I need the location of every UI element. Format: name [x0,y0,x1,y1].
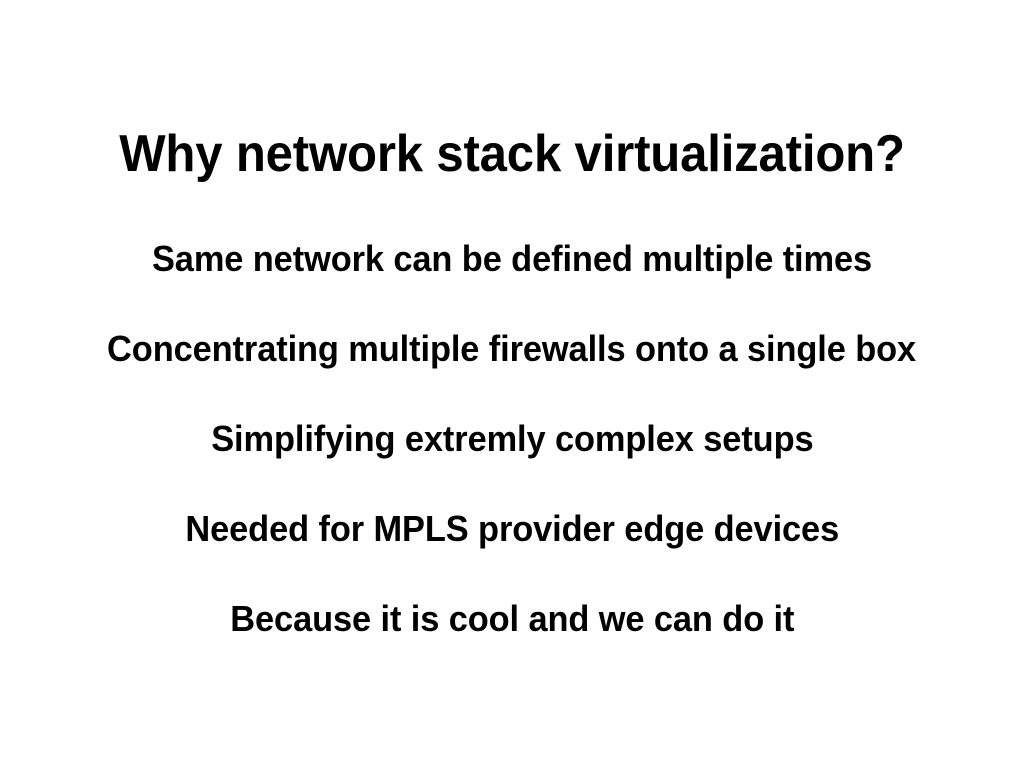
bullet-line-4: Needed for MPLS provider edge devices [0,484,1024,574]
bullet-line-3: Simplifying extremly complex setups [0,394,1024,484]
bullet-line-3-text: Simplifying extremly complex setups [211,394,813,484]
bullet-line-5: Because it is cool and we can do it [0,574,1024,664]
bullet-line-2: Concentrating multiple firewalls onto a … [0,304,1024,394]
bullet-line-2-text: Concentrating multiple firewalls onto a … [107,304,916,394]
presentation-slide: Why network stack virtualization? Same n… [0,0,1024,768]
slide-bullet-list: Same network can be defined multiple tim… [0,214,1024,664]
slide-title: Why network stack virtualization? [28,123,996,185]
bullet-line-1: Same network can be defined multiple tim… [0,214,1024,304]
bullet-line-1-text: Same network can be defined multiple tim… [152,214,872,304]
bullet-line-5-text: Because it is cool and we can do it [230,574,794,664]
bullet-line-4-text: Needed for MPLS provider edge devices [185,484,839,574]
